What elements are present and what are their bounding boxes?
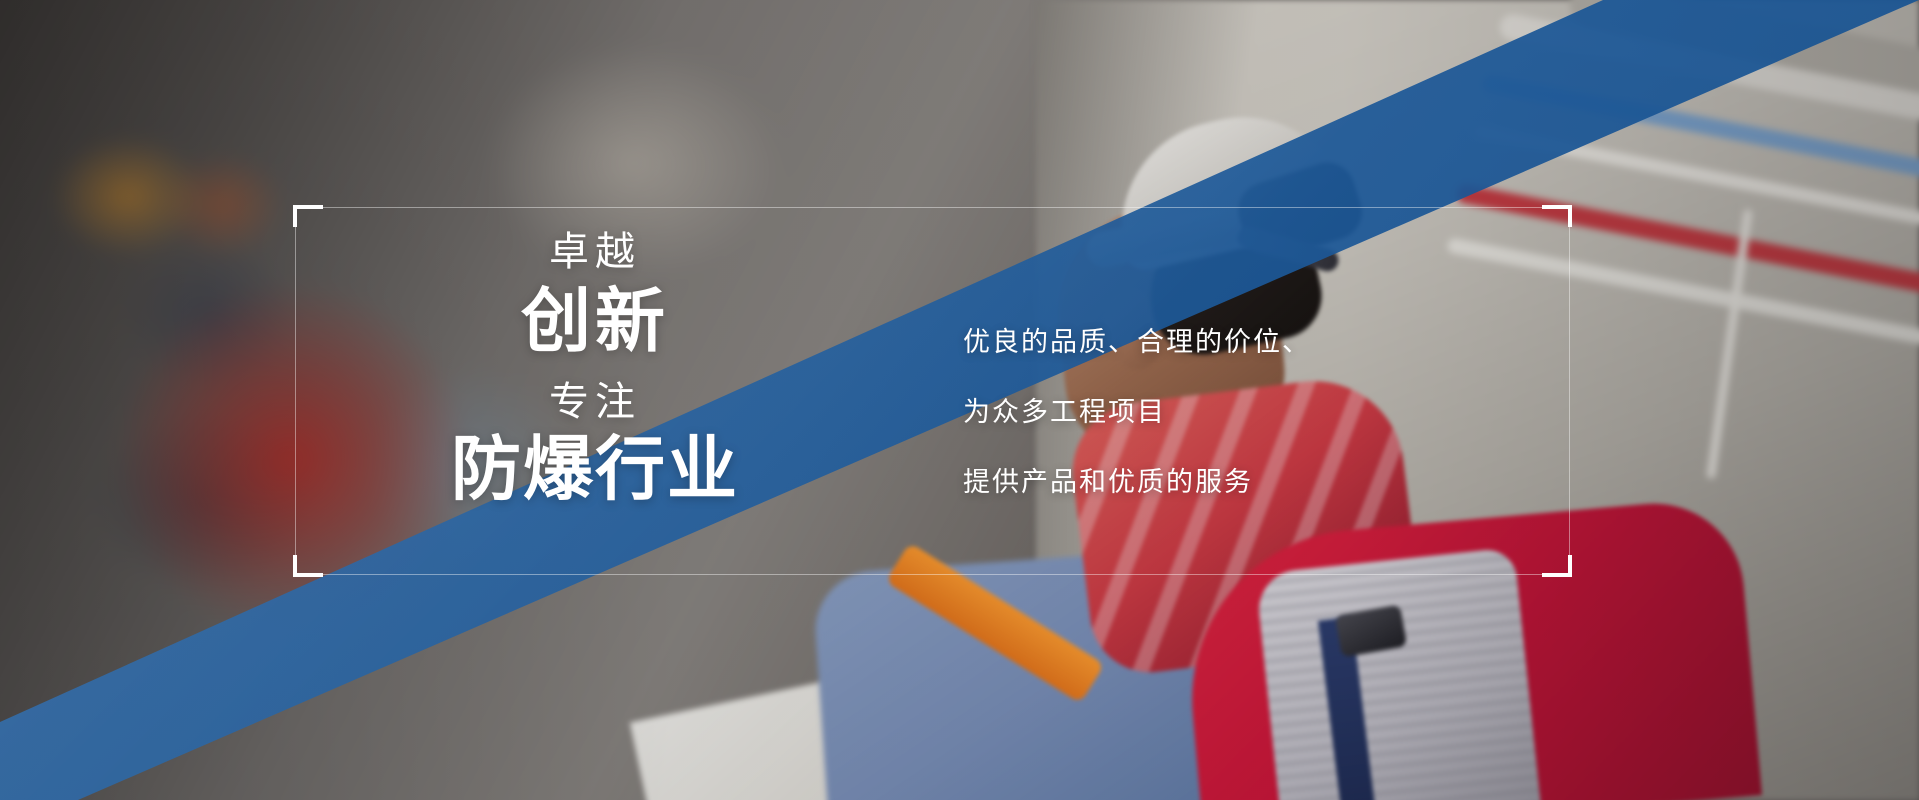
frame-edge-right [1569, 207, 1570, 575]
frame-edge-bottom [295, 574, 1570, 575]
description-block: 优良的品质、合理的价位、 为众多工程项目 提供产品和优质的服务 [963, 320, 1311, 499]
description-line-2: 为众多工程项目 [963, 390, 1311, 429]
headline-line-3: 专注 [430, 382, 760, 422]
frame-corner-bottom-right [1542, 555, 1572, 577]
headline-block: 卓越 创新 专注 防爆行业 [430, 232, 760, 504]
frame-edge-top [295, 207, 1570, 208]
frame-corner-bottom-left [293, 555, 323, 577]
headline-line-4: 防爆行业 [430, 434, 760, 504]
description-line-1: 优良的品质、合理的价位、 [963, 320, 1311, 359]
frame-corner-top-right [1542, 205, 1572, 227]
headline-line-1: 卓越 [430, 232, 760, 272]
description-line-3: 提供产品和优质的服务 [963, 460, 1311, 499]
frame-corner-top-left [293, 205, 323, 227]
frame-edge-left [295, 207, 296, 575]
hero-banner: 卓越 创新 专注 防爆行业 优良的品质、合理的价位、 为众多工程项目 提供产品和… [0, 0, 1919, 800]
headline-line-2: 创新 [430, 286, 760, 356]
